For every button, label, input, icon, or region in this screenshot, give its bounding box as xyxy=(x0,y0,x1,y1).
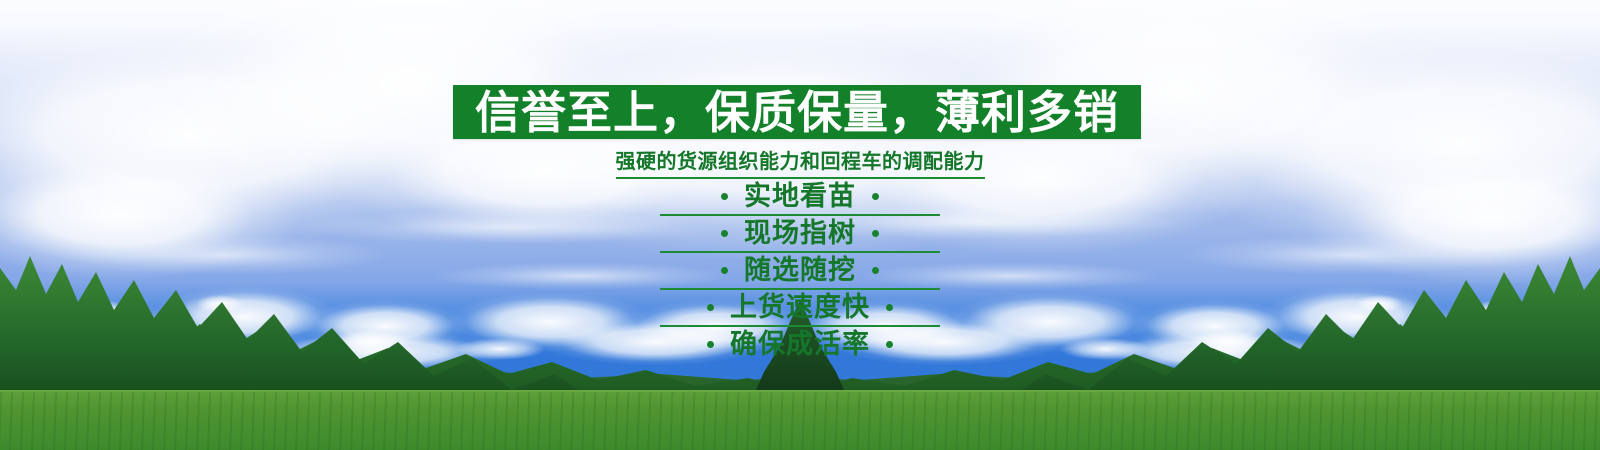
feature-label: 上货速度快 xyxy=(730,294,870,321)
bullet-dot-icon xyxy=(707,304,714,311)
subtitle-text: 强硬的货源组织能力和回程车的调配能力 xyxy=(616,145,985,179)
headline-text: 信誉至上，保质保量，薄利多销 xyxy=(475,90,1119,135)
feature-list: 实地看苗 现场指树 随选随挖 上货速度快 确保成活率 xyxy=(0,179,1600,362)
feature-item: 确保成活率 xyxy=(660,327,940,362)
feature-label: 随选随挖 xyxy=(744,257,856,284)
feature-item: 现场指树 xyxy=(660,216,940,253)
feature-label: 确保成活率 xyxy=(730,331,870,358)
bullet-dot-icon xyxy=(886,341,893,348)
bullet-dot-icon xyxy=(872,193,879,200)
feature-label: 实地看苗 xyxy=(744,183,856,210)
bullet-dot-icon xyxy=(721,230,728,237)
bullet-dot-icon xyxy=(872,230,879,237)
feature-item: 随选随挖 xyxy=(660,253,940,290)
bullet-dot-icon xyxy=(872,267,879,274)
bullet-dot-icon xyxy=(886,304,893,311)
bullet-dot-icon xyxy=(707,341,714,348)
feature-item: 实地看苗 xyxy=(660,179,940,216)
subtitle-wrapper: 强硬的货源组织能力和回程车的调配能力 xyxy=(0,145,1600,179)
feature-label: 现场指树 xyxy=(744,220,856,247)
banner-text-overlay: 信誉至上，保质保量，薄利多销 强硬的货源组织能力和回程车的调配能力 实地看苗 现… xyxy=(0,0,1600,450)
bullet-dot-icon xyxy=(721,193,728,200)
feature-item: 上货速度快 xyxy=(660,290,940,327)
promo-banner: 信誉至上，保质保量，薄利多销 强硬的货源组织能力和回程车的调配能力 实地看苗 现… xyxy=(0,0,1600,450)
bullet-dot-icon xyxy=(721,267,728,274)
headline-bar: 信誉至上，保质保量，薄利多销 xyxy=(453,85,1141,139)
